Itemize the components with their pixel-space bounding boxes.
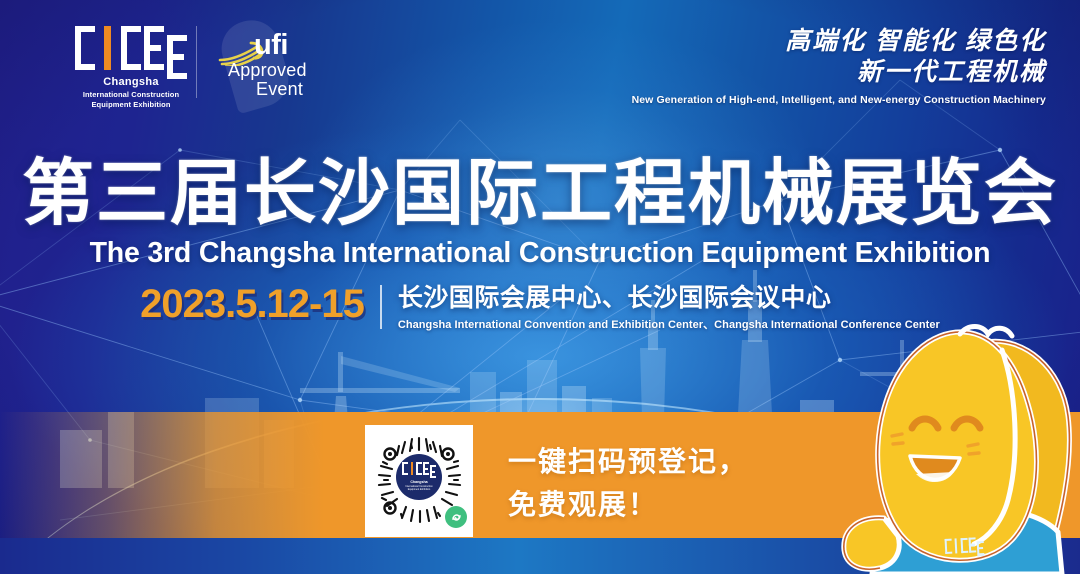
event-date: 2023.5.12-15 xyxy=(140,284,364,324)
cta-line2: 免费观展！ xyxy=(508,483,748,526)
qr-center-cicee-mark xyxy=(402,462,437,478)
qr-center-sub-line2: Equipment Exhibition xyxy=(408,488,430,491)
logo-subtitle-line2: Equipment Exhibition xyxy=(72,100,190,109)
ufi-wordmark: ufi xyxy=(254,31,288,60)
qr-inner: Changsha International Construction Equi… xyxy=(368,428,470,534)
ufi-approved-label: Approved xyxy=(228,61,307,80)
page-title-cn: 第三届长沙国际工程机械展览会 xyxy=(0,158,1080,230)
ufi-approved-event-badge[interactable]: ufi Approved Event xyxy=(212,20,310,108)
cicee-logo-mark xyxy=(72,26,190,72)
slogan-en: New Generation of High-end, Intelligent,… xyxy=(632,94,1046,106)
bottom-strip xyxy=(0,538,1080,574)
event-promotion-banner: Changsha International Construction Equi… xyxy=(0,0,1080,574)
cta-line1: 一键扫码预登记， xyxy=(508,440,748,483)
event-venue-block: 长沙国际会展中心、长沙国际会议中心 Changsha International… xyxy=(398,284,940,332)
event-venue-en: Changsha International Convention and Ex… xyxy=(398,316,940,332)
cicee-logo[interactable]: Changsha International Construction Equi… xyxy=(72,26,190,109)
logo-divider xyxy=(196,26,197,98)
qr-center-logo: Changsha International Construction Equi… xyxy=(396,454,442,500)
slogan-cn-line1: 高端化 智能化 绿色化 xyxy=(632,26,1046,57)
slogan-block: 高端化 智能化 绿色化 新一代工程机械 New Generation of Hi… xyxy=(632,26,1046,106)
slogan-cn-line2: 新一代工程机械 xyxy=(632,57,1046,88)
wechat-miniprogram-icon xyxy=(445,506,467,528)
event-info-divider xyxy=(380,285,382,329)
event-info-row: 2023.5.12-15 长沙国际会展中心、长沙国际会议中心 Changsha … xyxy=(0,284,1080,332)
ufi-event-label: Event xyxy=(256,80,303,99)
qr-center-city: Changsha xyxy=(410,480,427,484)
registration-qr-code[interactable]: Changsha International Construction Equi… xyxy=(365,425,473,537)
event-venue-cn: 长沙国际会展中心、长沙国际会议中心 xyxy=(398,285,940,311)
mascot-shirt-logo xyxy=(945,536,985,557)
cta-text-block: 一键扫码预登记， 免费观展！ xyxy=(508,440,748,527)
page-title-en: The 3rd Changsha International Construct… xyxy=(0,237,1080,270)
logo-subtitle-line1: International Construction xyxy=(72,90,190,99)
